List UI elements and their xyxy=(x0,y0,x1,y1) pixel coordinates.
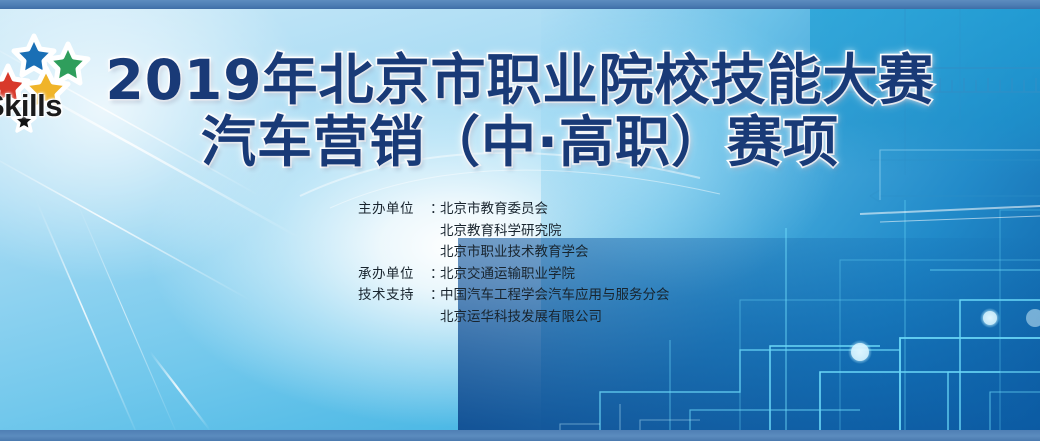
logo-wordmark: Skills xyxy=(0,88,62,124)
upper-right-streaks xyxy=(860,206,1040,222)
organizer-colon: ： xyxy=(430,285,440,307)
organizer-label: 技术支持 xyxy=(358,285,430,307)
organizer-row: 技术支持 ： 北京运华科技发展有限公司 xyxy=(358,307,670,329)
organizer-row: 主办单位 ： 北京市教育委员会 xyxy=(358,199,670,221)
competition-banner: Skills 2019年北京市职业院校技能大赛 汽车营销（中·高职）赛项 主办单… xyxy=(0,0,1040,441)
organizer-value: 中国汽车工程学会汽车应用与服务分会 xyxy=(440,285,670,307)
organizer-label: 承办单位 xyxy=(358,264,430,286)
organizer-row: 主办单位 ： 北京教育科学研究院 xyxy=(358,221,670,243)
ruler-ticks-graphic xyxy=(812,0,1040,202)
bottom-strip xyxy=(0,430,1040,441)
organizer-colon: ： xyxy=(430,264,440,286)
glow-beams xyxy=(790,190,1000,441)
organizer-colon: ： xyxy=(430,199,440,221)
organizer-row: 主办单位 ： 北京市职业技术教育学会 xyxy=(358,242,670,264)
organizer-row: 承办单位 ： 北京交通运输职业学院 xyxy=(358,264,670,286)
organizer-value: 北京市职业技术教育学会 xyxy=(440,242,589,264)
top-strip xyxy=(0,0,1040,9)
organizer-row: 技术支持 ： 中国汽车工程学会汽车应用与服务分会 xyxy=(358,285,670,307)
organizer-value: 北京教育科学研究院 xyxy=(440,221,562,243)
organizer-info-block: 主办单位 ： 北京市教育委员会 主办单位 ： 北京教育科学研究院 主办单位 ： … xyxy=(358,199,670,328)
organizer-value: 北京运华科技发展有限公司 xyxy=(440,307,602,329)
circuit-node-icon xyxy=(848,308,1040,364)
organizer-label: 主办单位 xyxy=(358,199,430,221)
organizer-value: 北京交通运输职业学院 xyxy=(440,264,575,286)
organizer-value: 北京市教育委员会 xyxy=(440,199,548,221)
